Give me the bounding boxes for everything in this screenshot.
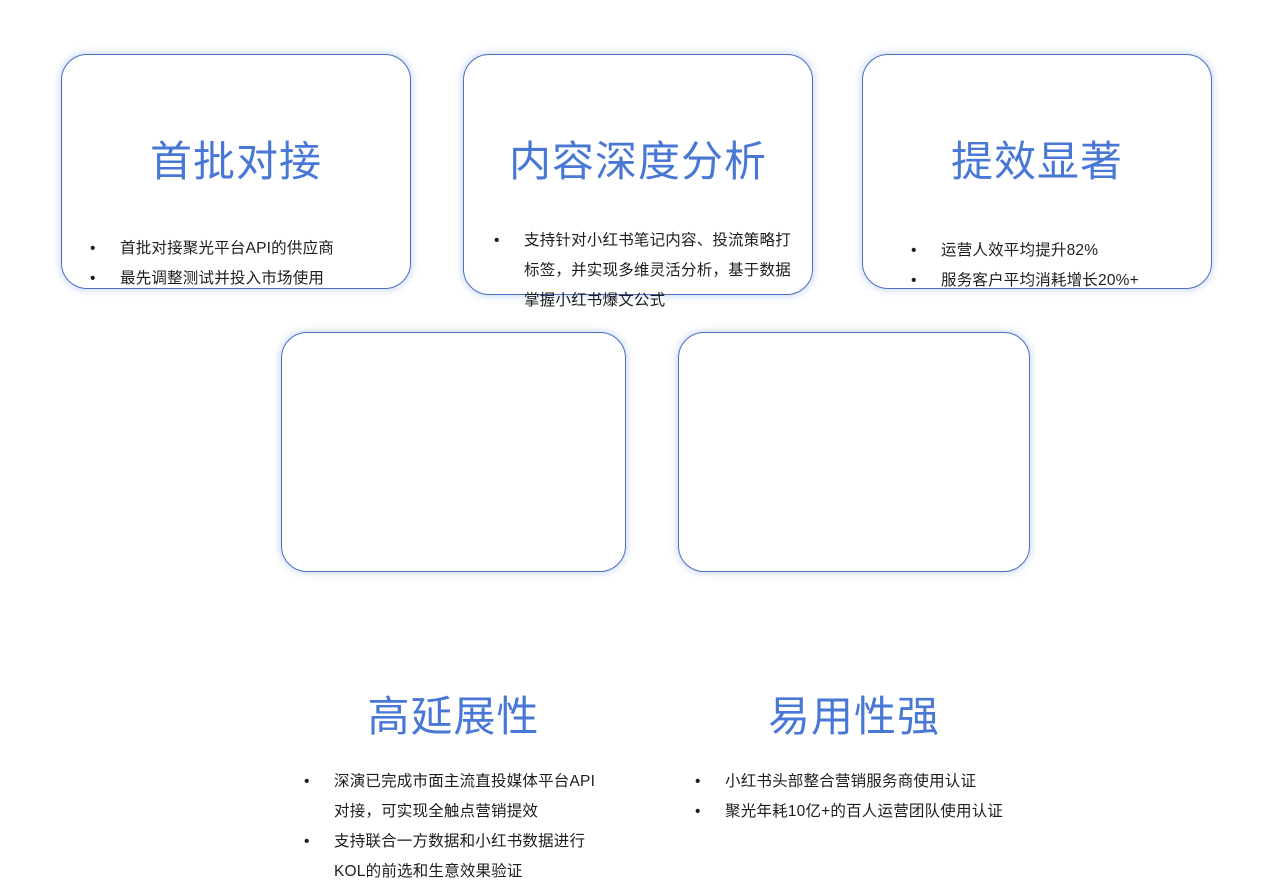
bullet-point-icon: •: [304, 767, 334, 797]
list-item: • 深演已完成市面主流直投媒体平台API对接，可实现全触点营销提效: [304, 767, 609, 827]
card-title: 首批对接: [62, 141, 410, 183]
bullet-point-icon: •: [90, 264, 120, 294]
list-item: • 服务客户平均消耗增长20%+: [911, 266, 1201, 296]
card-title: 易用性强: [679, 696, 1029, 738]
bullet-point-icon: •: [911, 266, 941, 296]
list-item: • 最先调整测试并投入市场使用: [90, 264, 390, 294]
card-bullet-list: • 运营人效平均提升82% • 服务客户平均消耗增长20%+: [911, 236, 1201, 296]
card-bullet-list: • 小红书头部整合营销服务商使用认证 • 聚光年耗10亿+的百人运营团队使用认证: [695, 767, 1015, 827]
feature-card-extensibility[interactable]: 高延展性 • 深演已完成市面主流直投媒体平台API对接，可实现全触点营销提效 •…: [281, 332, 626, 572]
feature-card-ease-of-use[interactable]: 易用性强 • 小红书头部整合营销服务商使用认证 • 聚光年耗10亿+的百人运营团…: [678, 332, 1030, 572]
feature-card-content-analysis[interactable]: 内容深度分析 • 支持针对小红书笔记内容、投流策略打标签，并实现多维灵活分析，基…: [463, 54, 813, 295]
card-title: 高延展性: [282, 696, 625, 738]
card-bullet-list: • 深演已完成市面主流直投媒体平台API对接，可实现全触点营销提效 • 支持联合…: [304, 767, 609, 887]
list-item-text: 支持联合一方数据和小红书数据进行KOL的前选和生意效果验证: [334, 827, 609, 887]
list-item: • 支持联合一方数据和小红书数据进行KOL的前选和生意效果验证: [304, 827, 609, 887]
card-bullet-list: • 首批对接聚光平台API的供应商 • 最先调整测试并投入市场使用: [90, 234, 390, 294]
list-item-text: 支持针对小红书笔记内容、投流策略打标签，并实现多维灵活分析，基于数据掌握小红书爆…: [524, 226, 796, 316]
list-item: • 运营人效平均提升82%: [911, 236, 1201, 266]
bullet-point-icon: •: [911, 236, 941, 266]
list-item-text: 运营人效平均提升82%: [941, 236, 1201, 266]
feature-card-first-integration[interactable]: 首批对接 • 首批对接聚光平台API的供应商 • 最先调整测试并投入市场使用: [61, 54, 411, 289]
feature-card-efficiency-gain[interactable]: 提效显著 • 运营人效平均提升82% • 服务客户平均消耗增长20%+: [862, 54, 1212, 289]
bullet-point-icon: •: [695, 767, 725, 797]
list-item: • 支持针对小红书笔记内容、投流策略打标签，并实现多维灵活分析，基于数据掌握小红…: [494, 226, 796, 316]
list-item-text: 深演已完成市面主流直投媒体平台API对接，可实现全触点营销提效: [334, 767, 609, 827]
card-title: 提效显著: [863, 141, 1211, 183]
card-title: 内容深度分析: [464, 141, 812, 183]
bullet-point-icon: •: [494, 226, 524, 256]
list-item-text: 首批对接聚光平台API的供应商: [120, 234, 390, 264]
bullet-point-icon: •: [695, 797, 725, 827]
list-item-text: 服务客户平均消耗增长20%+: [941, 266, 1201, 296]
card-bullet-list: • 支持针对小红书笔记内容、投流策略打标签，并实现多维灵活分析，基于数据掌握小红…: [494, 226, 796, 316]
bullet-point-icon: •: [304, 827, 334, 857]
slide-canvas: 首批对接 • 首批对接聚光平台API的供应商 • 最先调整测试并投入市场使用 内…: [0, 0, 1280, 625]
list-item-text: 最先调整测试并投入市场使用: [120, 264, 390, 294]
list-item-text: 小红书头部整合营销服务商使用认证: [725, 767, 1015, 797]
list-item: • 小红书头部整合营销服务商使用认证: [695, 767, 1015, 797]
list-item-text: 聚光年耗10亿+的百人运营团队使用认证: [725, 797, 1015, 827]
bullet-point-icon: •: [90, 234, 120, 264]
list-item: • 首批对接聚光平台API的供应商: [90, 234, 390, 264]
list-item: • 聚光年耗10亿+的百人运营团队使用认证: [695, 797, 1015, 827]
